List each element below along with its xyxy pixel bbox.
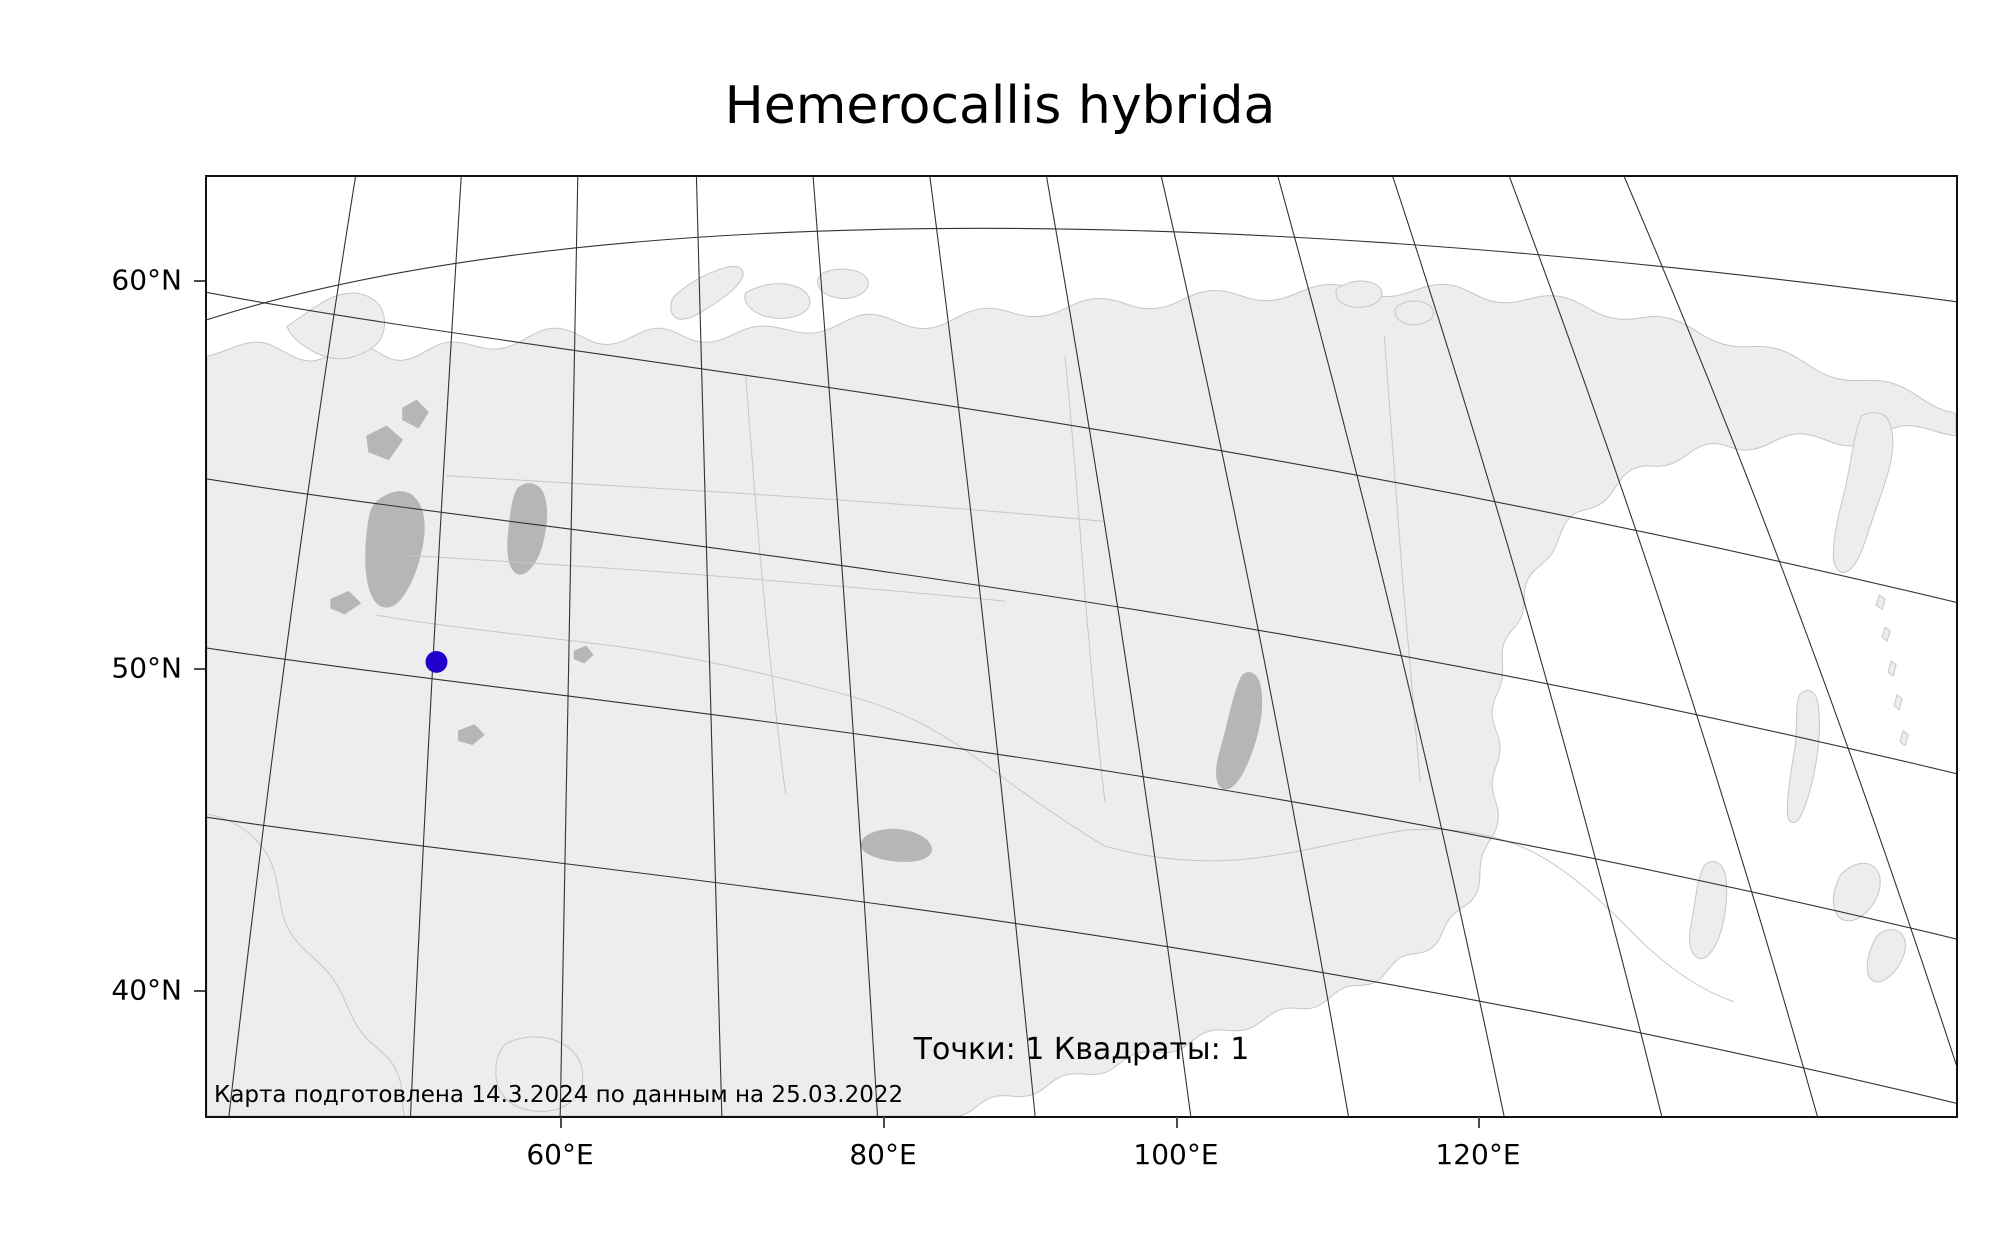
axis-label-60e: 60°E: [526, 1138, 593, 1171]
map-plot-area[interactable]: Точки: 1 Квадраты: 1 Карта подготовлена …: [205, 175, 1958, 1118]
occurrence-layer[interactable]: [426, 651, 448, 673]
arctic-island-d: [1395, 301, 1433, 325]
axis-label-50n: 50°N: [14, 652, 182, 685]
axis-label-40n: 40°N: [14, 974, 182, 1007]
tick-60n: [194, 280, 205, 282]
map-canvas: [207, 177, 1956, 1116]
arctic-island-b: [818, 269, 869, 298]
tick-60e: [560, 1117, 562, 1128]
distribution-map-figure: Hemerocallis hybrida: [0, 0, 2000, 1253]
axis-label-60n: 60°N: [14, 264, 182, 297]
tick-40n: [194, 990, 205, 992]
south-landmass-fragment: [496, 1037, 583, 1111]
arctic-island-c: [1336, 281, 1382, 307]
axis-label-100e: 100°E: [1133, 1138, 1218, 1171]
tick-100e: [1176, 1117, 1178, 1128]
axis-label-80e: 80°E: [849, 1138, 916, 1171]
tick-120e: [1478, 1117, 1480, 1128]
axis-label-120e: 120°E: [1435, 1138, 1520, 1171]
tick-80e: [883, 1117, 885, 1128]
occurrence-point-1[interactable]: [426, 651, 448, 673]
page-title: Hemerocallis hybrida: [0, 78, 2000, 134]
map-layers: [207, 177, 1956, 1116]
tick-50n: [194, 668, 205, 670]
